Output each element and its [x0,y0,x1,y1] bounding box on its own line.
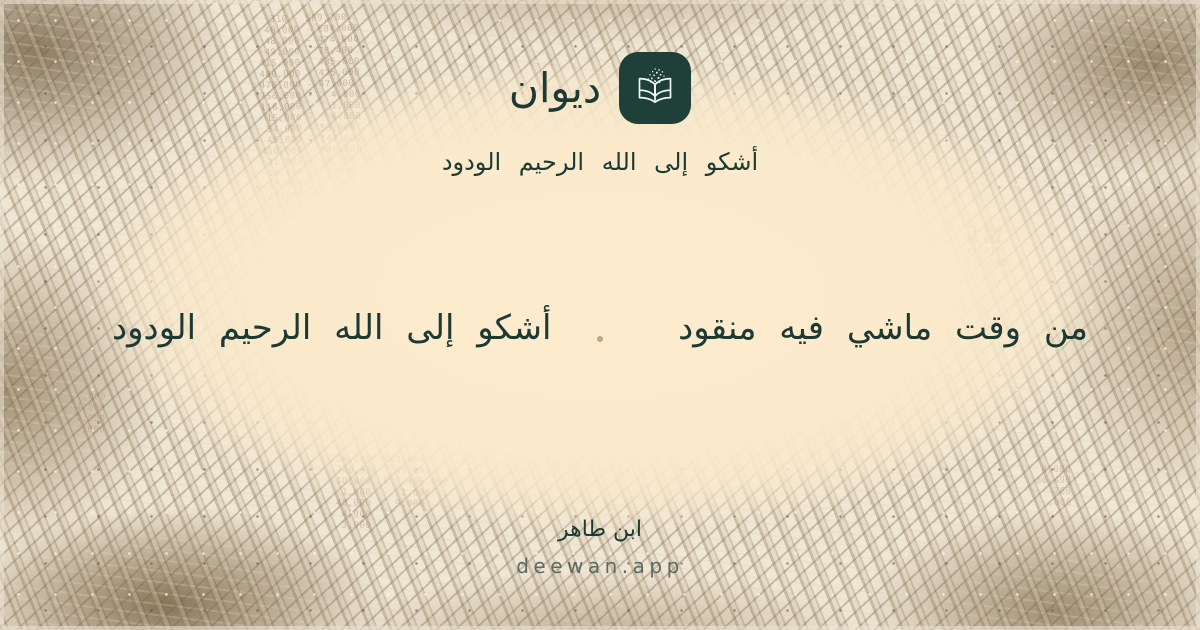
poster-canvas: 310 - 589,700 40,000 - 684,000 48,800 - … [0,0,1200,630]
poster-content: ديوان أشكو إلى الله الرحيم الودود من وقت… [0,0,1200,630]
dot-separator-icon [582,336,618,352]
brand-header: ديوان [509,52,691,124]
site-url[interactable]: deewan.app [0,554,1200,578]
open-book-sparkles-icon [633,66,677,110]
verse-first-hemistich: أشكو إلى الله الرحيم الودود [112,306,582,352]
poem-subtitle: أشكو إلى الله الرحيم الودود [442,146,758,180]
verse-line: من وقت ماشي فيه منقود أشكو إلى الله الرح… [0,306,1200,352]
app-name: ديوان [509,68,601,109]
verse-second-hemistich: من وقت ماشي فيه منقود [618,306,1088,352]
poem-author: ابن طاهر [0,516,1200,545]
poster-footer: ابن طاهر deewan.app [0,516,1200,578]
app-logo [619,52,691,124]
